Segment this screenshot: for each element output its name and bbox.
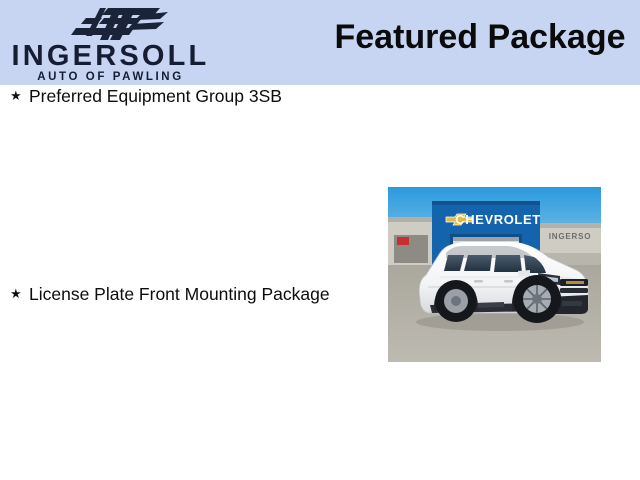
vehicle-photo: INGERSO CHEVROLET	[388, 187, 601, 362]
feature-label: Preferred Equipment Group 3SB	[29, 85, 282, 107]
star-bullet-icon: ★	[10, 85, 29, 107]
list-item: ★ Preferred Equipment Group 3SB	[10, 85, 282, 107]
page-header: INGERSOLL AUTO OF PAWLING Featured Packa…	[0, 0, 640, 85]
dealer-logo-subwordmark: AUTO OF PAWLING	[8, 72, 213, 84]
svg-text:INGERSO: INGERSO	[549, 232, 592, 241]
dealer-logo-wordmark: INGERSOLL	[8, 42, 213, 71]
star-bullet-icon: ★	[10, 283, 29, 305]
page-title: Featured Package	[330, 17, 630, 58]
dealer-logo: INGERSOLL AUTO OF PAWLING	[8, 4, 213, 82]
list-item: ★ License Plate Front Mounting Package	[10, 283, 330, 305]
ingersoll-winged-emblem-icon	[56, 6, 174, 42]
feature-label: License Plate Front Mounting Package	[29, 283, 330, 305]
svg-text:CHEVROLET: CHEVROLET	[455, 212, 541, 227]
